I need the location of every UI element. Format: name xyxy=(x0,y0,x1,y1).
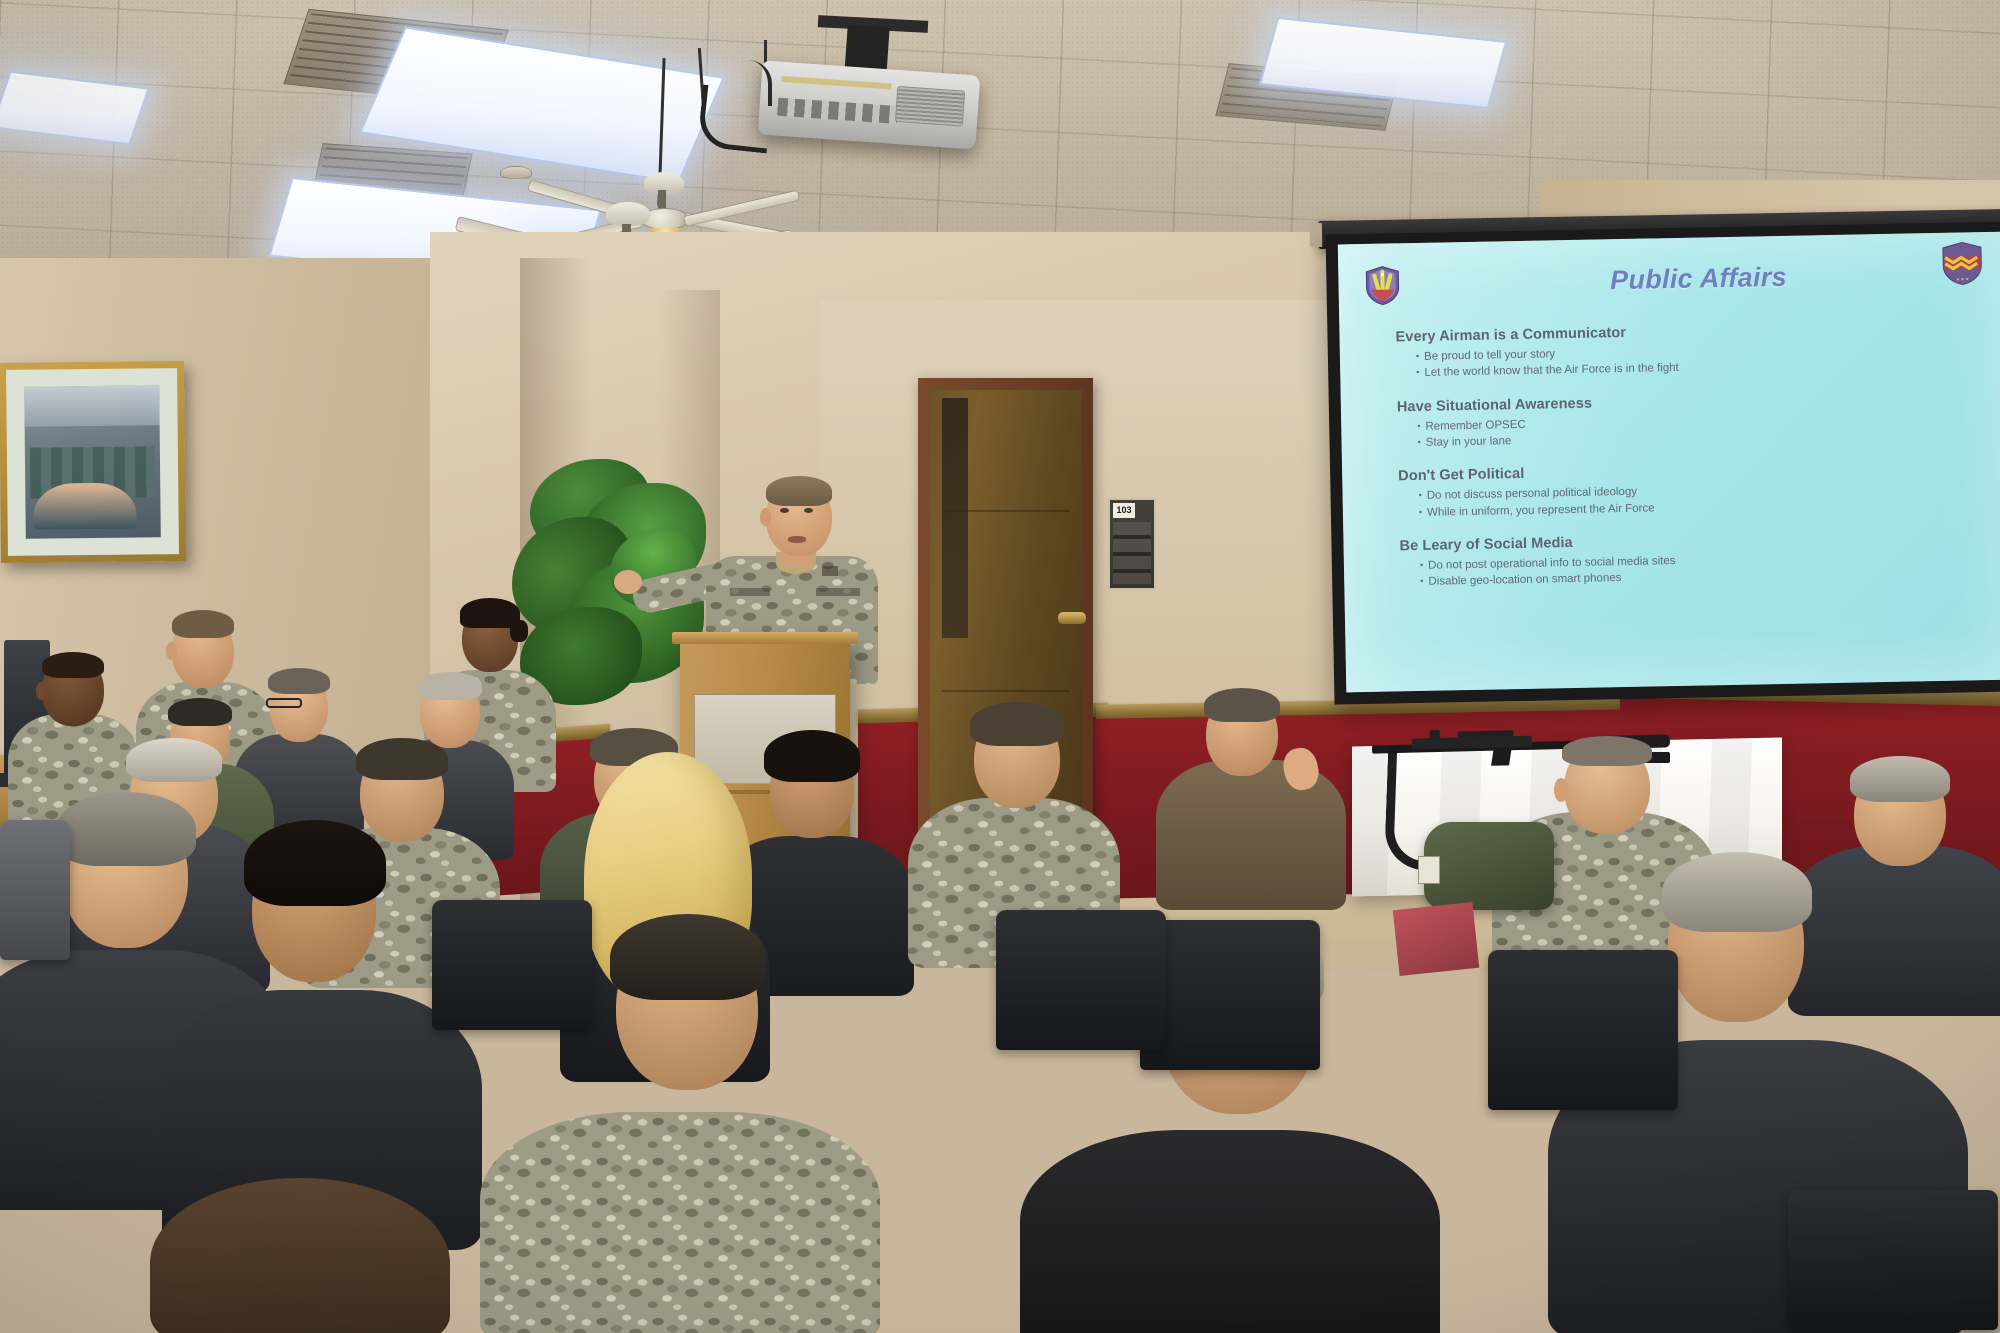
chair xyxy=(996,910,1166,1050)
presenter-hair xyxy=(766,476,832,506)
presenter-eye xyxy=(780,508,789,513)
chair xyxy=(1488,950,1678,1110)
door-handle[interactable] xyxy=(1058,612,1086,624)
presenter-name-tape xyxy=(730,588,770,596)
framed-picture xyxy=(0,361,186,563)
presenter-ear xyxy=(760,508,771,526)
slide-section: Have Situational Awareness Remember OPSE… xyxy=(1397,388,1992,452)
wing-shield-icon: ★ ★ ★ xyxy=(1940,240,1985,287)
chair xyxy=(1788,1190,1998,1330)
presenter-mouth xyxy=(788,536,806,543)
projection-screen: ★ ★ ★ Public Affairs Every Airman is a C… xyxy=(1338,232,2000,693)
door-window xyxy=(942,398,968,638)
room-number-sign: 103 xyxy=(1108,498,1156,590)
briefing-room-scene: 103 xyxy=(0,0,2000,1333)
red-folder xyxy=(1393,902,1479,976)
presenter-eye xyxy=(804,508,813,513)
chair xyxy=(1140,920,1320,1070)
slide-section-bullets: Be proud to tell your story Let the worl… xyxy=(1416,338,1991,382)
slide-body: Every Airman is a Communicator Be proud … xyxy=(1395,318,1994,608)
chair xyxy=(432,900,592,1030)
equipment-bag xyxy=(1424,822,1554,910)
chair xyxy=(0,820,70,960)
presenter-rank-insignia xyxy=(822,566,838,576)
slide-title: Public Affairs xyxy=(1488,260,1909,299)
svg-text:★ ★ ★: ★ ★ ★ xyxy=(1956,276,1969,281)
slide-section: Be Leary of Social Media Do not post ope… xyxy=(1399,527,1994,591)
smoke-detector-icon xyxy=(500,166,532,179)
us-air-force-shield-icon xyxy=(1364,265,1401,306)
presenter-hand xyxy=(614,570,642,594)
ceiling-projector xyxy=(758,60,981,149)
slide-section: Every Airman is a Communicator Be proud … xyxy=(1395,318,1990,382)
bag-tag xyxy=(1418,856,1440,884)
slide-section-bullets: Remember OPSEC Stay in your lane xyxy=(1417,408,1992,452)
room-number-label: 103 xyxy=(1113,503,1135,518)
slide-section-bullets: Do not post operational info to social m… xyxy=(1420,547,1995,591)
slide-section-bullets: Do not discuss personal political ideolo… xyxy=(1418,477,1993,521)
slide-section: Don't Get Political Do not discuss perso… xyxy=(1398,457,1993,521)
presenter-service-tape xyxy=(816,588,860,596)
